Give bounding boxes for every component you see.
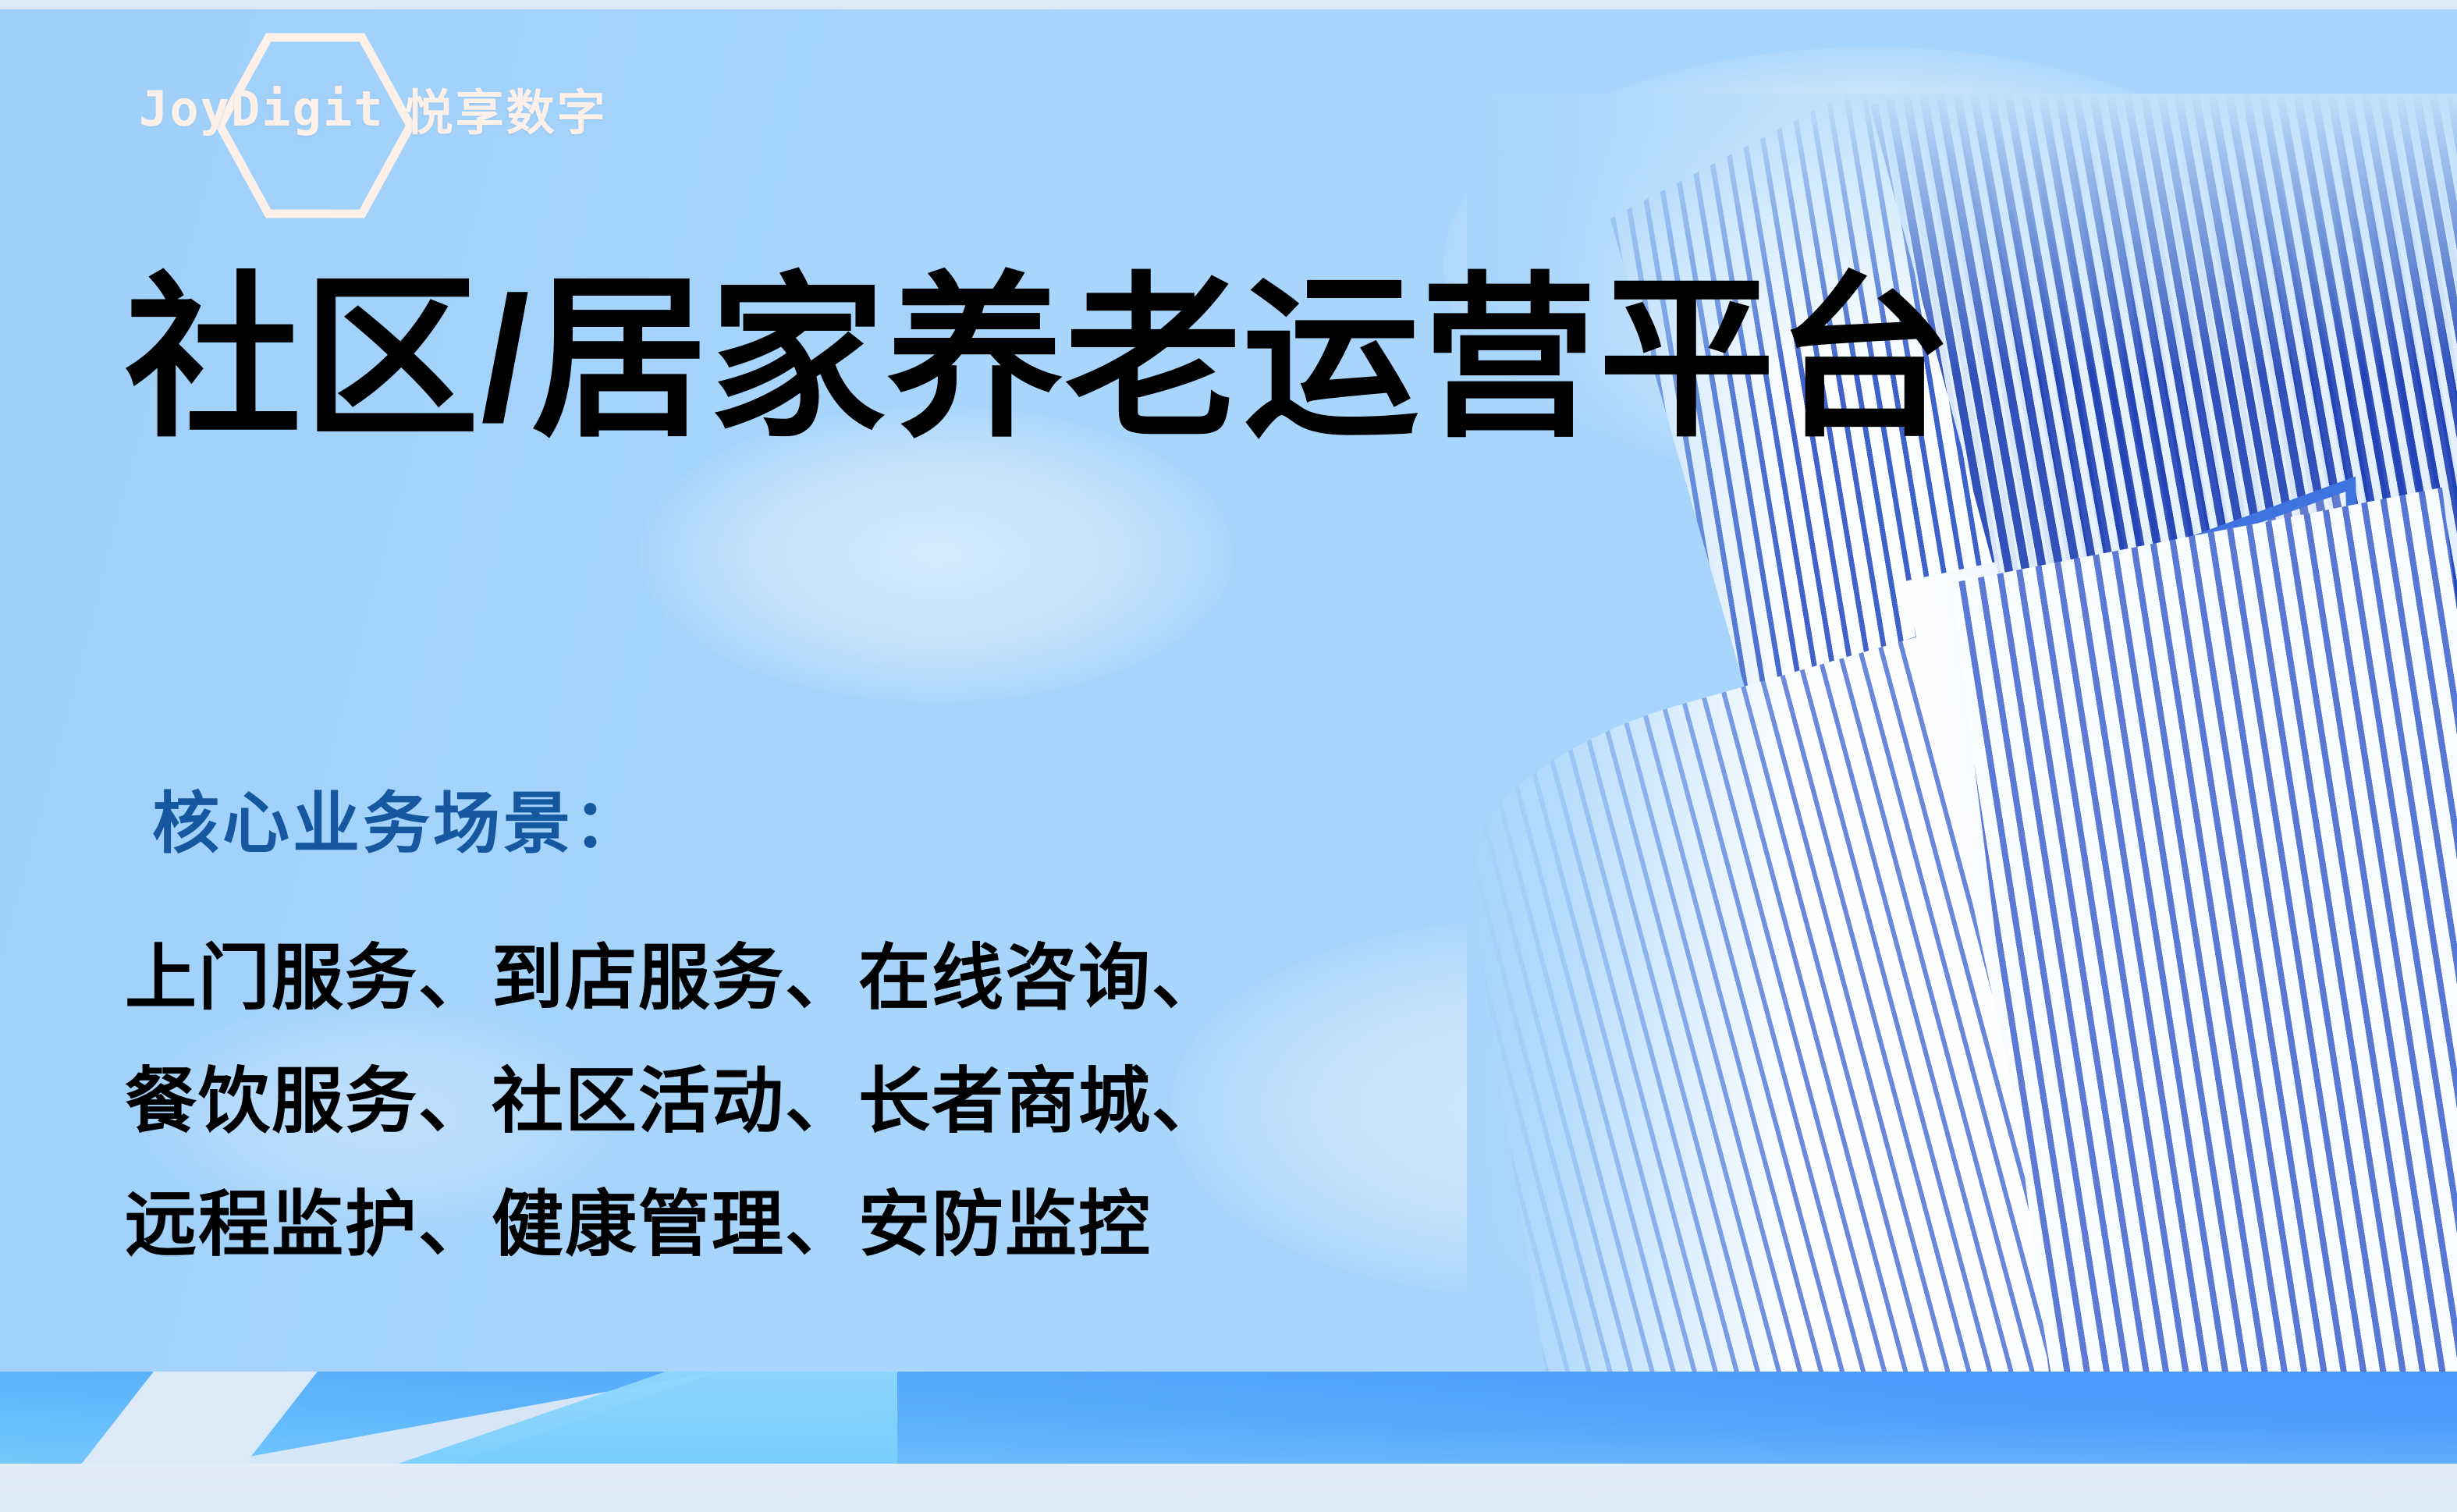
brand-logo[interactable]: JoyDigit 悦享数字	[139, 73, 608, 144]
core-scenarios-label: 核心业务场景：	[152, 768, 644, 866]
bottom-footer-strip	[0, 1464, 2457, 1512]
slide-canvas: JoyDigit 悦享数字 社区/居家养老运营平台 核心业务场景： 上门服务、到…	[0, 0, 2457, 1512]
logo-wordmark: JoyDigit	[139, 80, 385, 137]
scenario-line: 餐饮服务、社区活动、长者商城、	[125, 1040, 1225, 1163]
top-edge-strip	[0, 0, 2457, 9]
scenario-line: 上门服务、到店服务、在线咨询、	[125, 917, 1225, 1040]
core-scenarios-list: 上门服务、到店服务、在线咨询、 餐饮服务、社区活动、长者商城、 远程监护、健康管…	[125, 917, 1225, 1287]
logo-chinese-name: 悦享数字	[405, 73, 608, 144]
page-title: 社区/居家养老运营平台	[125, 264, 1955, 454]
scenario-line: 远程监护、健康管理、安防监控	[125, 1163, 1225, 1287]
bottom-decorative-band	[0, 1372, 2457, 1464]
